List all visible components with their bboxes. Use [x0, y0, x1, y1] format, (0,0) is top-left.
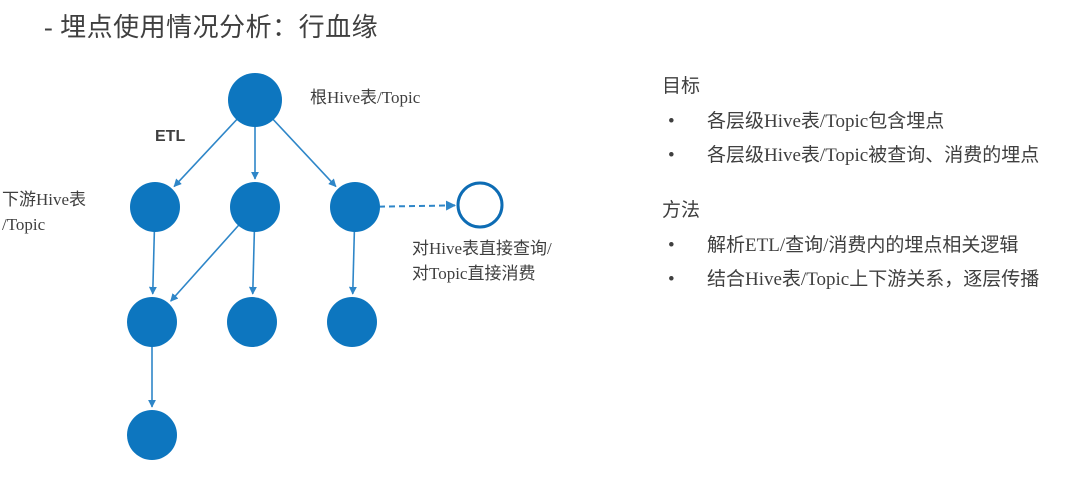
section-method: 方法 • 解析ETL/查询/消费内的埋点相关逻辑 • 结合Hive表/Topic… — [662, 196, 1068, 296]
lineage-edge — [353, 231, 355, 294]
section-goal-bullets: • 各层级Hive表/Topic包含埋点 • 各层级Hive表/Topic被查询… — [662, 106, 1068, 172]
page-title: - 埋点使用情况分析：行血缘 — [44, 11, 378, 45]
edge-layer — [152, 119, 455, 407]
lineage-node[interactable] — [230, 182, 280, 232]
section-method-bullets: • 解析ETL/查询/消费内的埋点相关逻辑 • 结合Hive表/Topic上下游… — [662, 230, 1068, 296]
lineage-node[interactable] — [327, 297, 377, 347]
root-node-label: 根Hive表/Topic — [310, 85, 420, 110]
text-panel: 目标 • 各层级Hive表/Topic包含埋点 • 各层级Hive表/Topic… — [662, 72, 1068, 306]
lineage-edge — [379, 205, 455, 206]
lineage-node[interactable] — [127, 410, 177, 460]
list-item: • 各层级Hive表/Topic包含埋点 — [662, 106, 1068, 138]
bullet-dot-icon: • — [668, 140, 675, 172]
bullet-dot-icon: • — [668, 230, 675, 262]
list-item: • 各层级Hive表/Topic被查询、消费的埋点 — [662, 140, 1068, 172]
lineage-edge — [273, 119, 336, 187]
section-goal: 目标 • 各层级Hive表/Topic包含埋点 • 各层级Hive表/Topic… — [662, 72, 1068, 172]
list-item-text: 各层级Hive表/Topic被查询、消费的埋点 — [707, 145, 1039, 166]
lineage-node-hollow[interactable] — [458, 183, 502, 227]
lineage-node[interactable] — [330, 182, 380, 232]
lineage-node[interactable] — [127, 297, 177, 347]
list-item: • 结合Hive表/Topic上下游关系，逐层传播 — [662, 264, 1068, 296]
list-item: • 解析ETL/查询/消费内的埋点相关逻辑 — [662, 230, 1068, 262]
lineage-node[interactable] — [228, 73, 282, 127]
list-item-text: 结合Hive表/Topic上下游关系，逐层传播 — [707, 269, 1039, 290]
lineage-node[interactable] — [227, 297, 277, 347]
lineage-edge — [253, 231, 255, 294]
etl-edge-label: ETL — [155, 124, 185, 149]
list-item-text: 解析ETL/查询/消费内的埋点相关逻辑 — [707, 235, 1018, 256]
direct-access-label: 对Hive表直接查询/ 对Topic直接消费 — [412, 236, 552, 286]
section-method-heading: 方法 — [662, 196, 1068, 226]
bullet-dot-icon: • — [668, 264, 675, 296]
list-item-text: 各层级Hive表/Topic包含埋点 — [707, 111, 944, 132]
lineage-node[interactable] — [130, 182, 180, 232]
lineage-edge — [153, 231, 155, 294]
downstream-node-label: 下游Hive表 /Topic — [2, 187, 86, 237]
slide-canvas: - 埋点使用情况分析：行血缘 根Hive表/Topic ETL 下游Hive表 … — [0, 0, 1080, 489]
bullet-dot-icon: • — [668, 106, 675, 138]
lineage-diagram: 根Hive表/Topic ETL 下游Hive表 /Topic 对Hive表直接… — [0, 55, 640, 489]
section-goal-heading: 目标 — [662, 72, 1068, 102]
lineage-edge — [171, 225, 239, 301]
